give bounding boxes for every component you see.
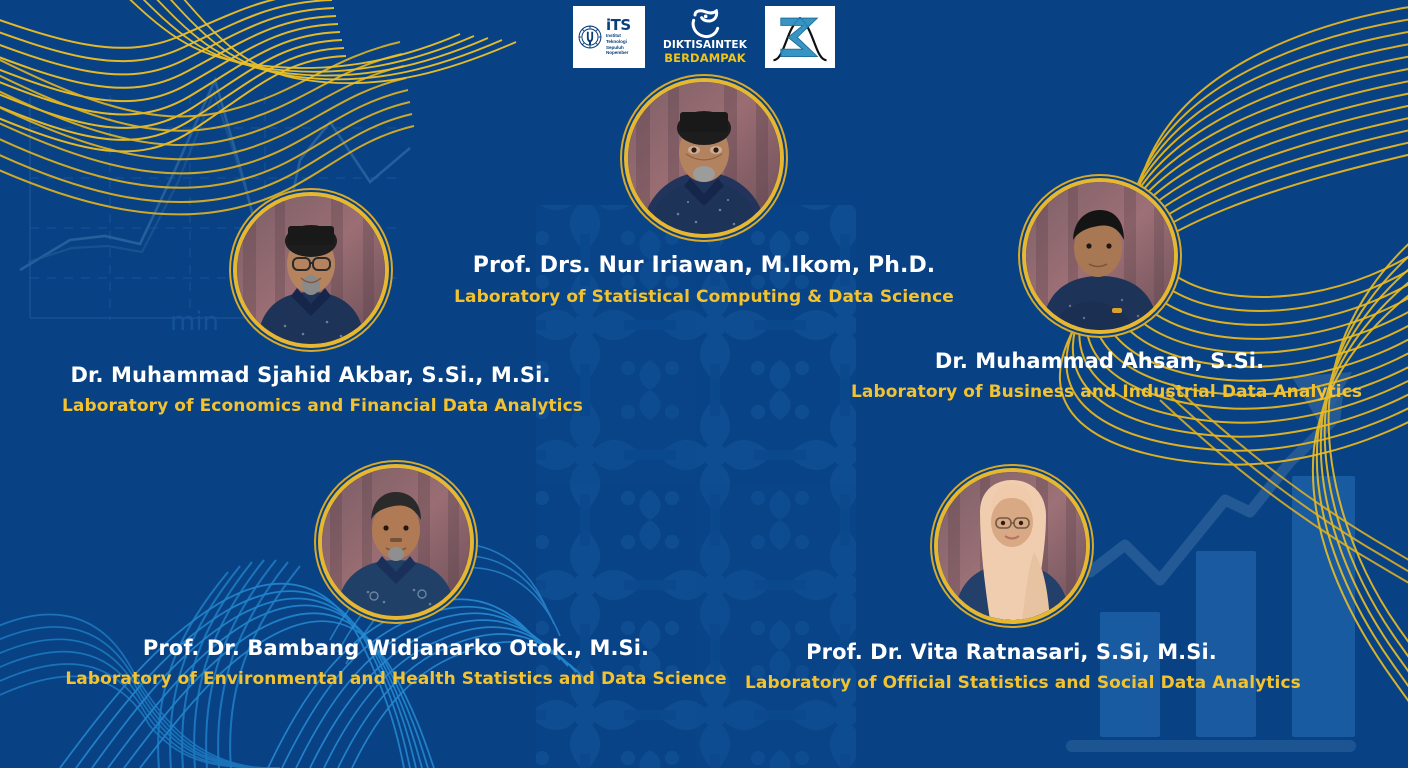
person-card-bottom-right: Prof. Dr. Vita Ratnasari, S.Si, M.Si. La…	[745, 472, 1278, 693]
its-logo: iTS Institut Teknologi Sepuluh Nopember	[573, 6, 645, 68]
its-wordmark: iTS	[606, 18, 641, 33]
poster-canvas: min	[0, 0, 1408, 768]
portrait-vita-ratnasari	[938, 472, 1086, 620]
diktisaintek-line1: DIKTISAINTEK	[663, 40, 747, 51]
diktisaintek-emblem-icon	[688, 9, 722, 39]
person-name: Dr. Muhammad Sjahid Akbar, S.Si., M.Si.	[62, 363, 559, 387]
person-name: Prof. Dr. Bambang Widjanarko Otok., M.Si…	[62, 636, 730, 660]
person-lab: Laboratory of Environmental and Health S…	[62, 669, 730, 689]
portrait-muhammad-ahsan	[1026, 182, 1174, 330]
diktisaintek-logo: DIKTISAINTEK BERDAMPAK	[655, 6, 755, 68]
its-emblem-icon	[577, 24, 603, 50]
portrait-nur-iriawan	[628, 82, 780, 234]
diktisaintek-line2: BERDAMPAK	[664, 52, 745, 64]
person-card-left: Dr. Muhammad Sjahid Akbar, S.Si., M.Si. …	[62, 196, 559, 416]
statistics-sigma-logo	[765, 6, 835, 68]
person-card-right: Dr. Muhammad Ahsan, S.Si. Laboratory of …	[851, 182, 1348, 402]
person-lab: Laboratory of Business and Industrial Da…	[851, 382, 1348, 402]
person-name: Dr. Muhammad Ahsan, S.Si.	[851, 349, 1348, 373]
portrait-muhammad-sjahid-akbar	[237, 196, 385, 344]
its-sub-line3: Sepuluh Nopember	[606, 45, 641, 56]
person-name: Prof. Dr. Vita Ratnasari, S.Si, M.Si.	[745, 640, 1278, 664]
person-lab: Laboratory of Official Statistics and So…	[745, 673, 1278, 693]
portrait-bambang-widjanarko-otok	[322, 468, 470, 616]
logo-row: iTS Institut Teknologi Sepuluh Nopember …	[0, 6, 1408, 68]
person-lab: Laboratory of Economics and Financial Da…	[62, 396, 559, 416]
sigma-distribution-icon	[768, 9, 832, 66]
person-card-bottom-left: Prof. Dr. Bambang Widjanarko Otok., M.Si…	[62, 468, 730, 689]
